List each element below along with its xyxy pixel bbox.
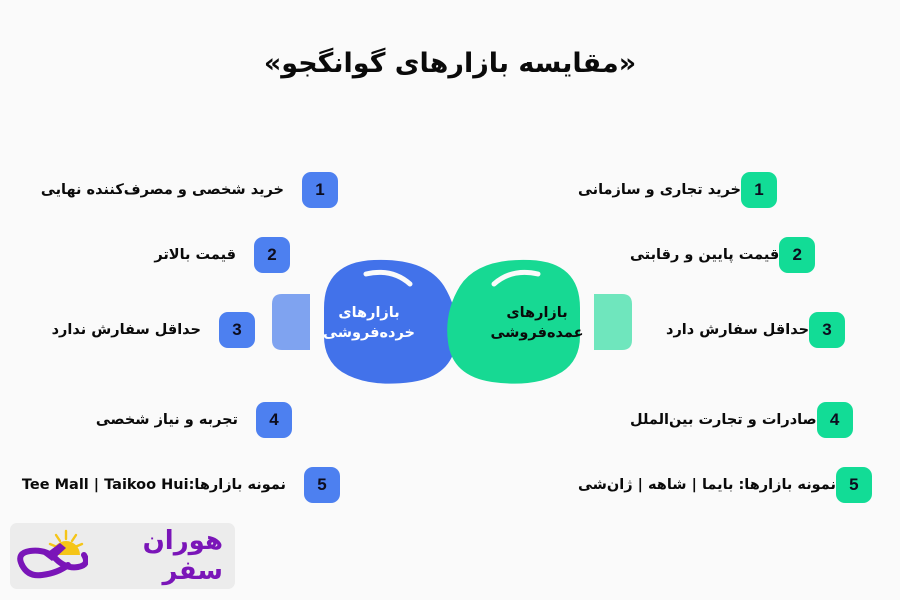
sun-plane-infinity-icon [10,529,88,583]
wholesale-row-1[interactable]: 1 خرید تجاری و سازمانی [560,170,777,210]
wholesale-badge-1: 1 [741,172,777,208]
wholesale-label-3: حداقل سفارش دارد [666,322,809,338]
wholesale-row-2[interactable]: 2 قیمت پایین و رقابتی [612,235,815,275]
brand-logo-text: هوران سفر [92,526,223,586]
wholesale-glove-label: بازارهای عمده‌فروشی [472,304,602,343]
wholesale-badge-5: 5 [836,467,872,503]
retail-row-1[interactable]: 1 خرید شخصی و مصرف‌کننده نهایی [41,170,338,210]
retail-label-2: قیمت بالاتر [154,247,236,263]
retail-label-1: خرید شخصی و مصرف‌کننده نهایی [41,182,284,198]
wholesale-label-4: صادرات و تجارت بین‌الملل [630,412,817,428]
brand-logo[interactable]: هوران سفر [10,523,235,589]
wholesale-label-5: نمونه بازارها: بایما | شاهه | ژان‌شی [578,477,836,493]
retail-badge-4: 4 [256,402,292,438]
retail-row-3[interactable]: 3 حداقل سفارش ندارد [52,310,255,350]
retail-glove-label: بازارهای خرده‌فروشی [304,304,434,343]
retail-label-5: نمونه بازارها:Tee Mall | Taikoo Hui [22,477,286,493]
retail-label-3: حداقل سفارش ندارد [52,322,201,338]
wholesale-badge-3: 3 [809,312,845,348]
page-title: «مقایسه بازارهای گوانگجو» [0,48,900,79]
wholesale-row-4[interactable]: 4 صادرات و تجارت بین‌الملل [612,400,853,440]
retail-badge-5: 5 [304,467,340,503]
retail-row-4[interactable]: 4 تجربه و نیاز شخصی [96,400,292,440]
retail-badge-1: 1 [302,172,338,208]
wholesale-badge-4: 4 [817,402,853,438]
wholesale-row-3[interactable]: 3 حداقل سفارش دارد [648,310,845,350]
retail-badge-3: 3 [219,312,255,348]
wholesale-label-2: قیمت پایین و رقابتی [630,247,779,263]
retail-label-4: تجربه و نیاز شخصی [96,412,238,428]
infographic-canvas: «مقایسه بازارهای گوانگجو» 1 خرید شخصی و … [0,0,900,600]
wholesale-label-1: خرید تجاری و سازمانی [578,182,741,198]
wholesale-row-5[interactable]: 5 نمونه بازارها: بایما | شاهه | ژان‌شی [560,465,872,505]
wholesale-badge-2: 2 [779,237,815,273]
boxing-gloves-graphic: بازارهای خرده‌فروشی بازارهای عمده‌فروشی [262,252,642,392]
retail-row-5[interactable]: 5 نمونه بازارها:Tee Mall | Taikoo Hui [22,465,340,505]
